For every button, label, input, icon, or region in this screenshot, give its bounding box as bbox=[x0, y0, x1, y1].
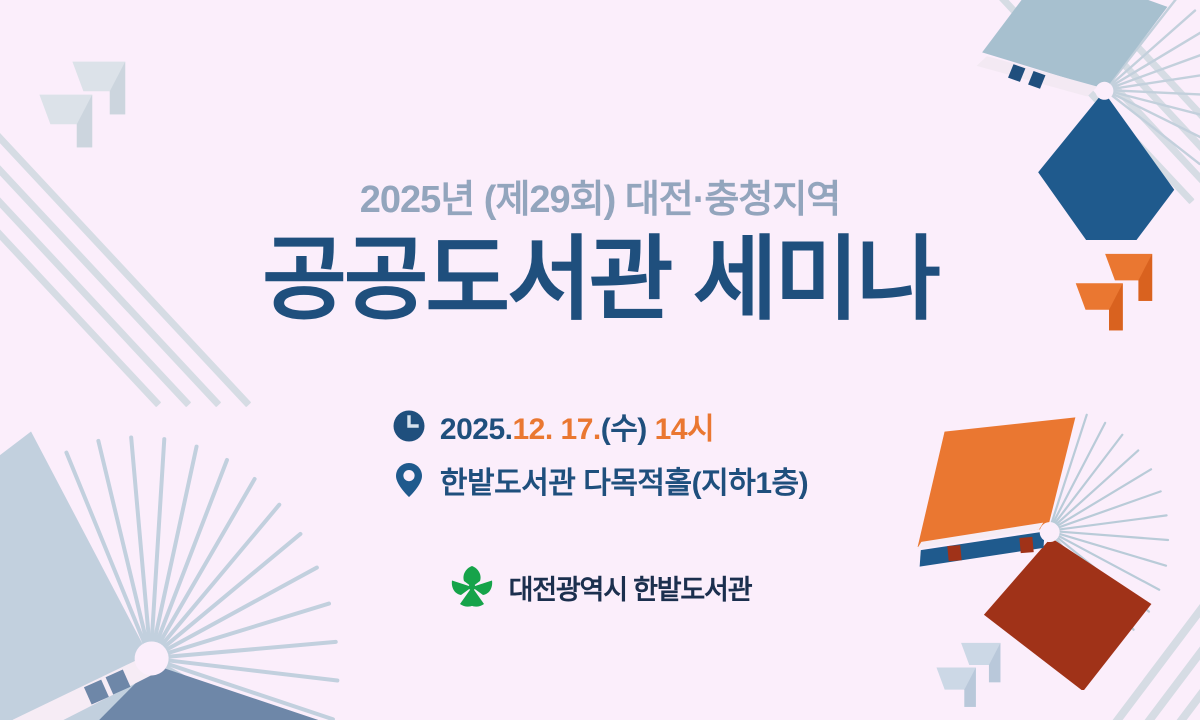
event-venue-text: 한밭도서관 다목적홀(지하1층) bbox=[440, 458, 808, 502]
seminar-poster: 2025년 (제29회) 대전·충청지역 공공도서관 세미나 2025.12. … bbox=[0, 0, 1200, 720]
organization-name: 대전광역시 한밭도서관 bbox=[509, 568, 752, 607]
event-date-row: 2025.12. 17.(수) 14시 bbox=[392, 404, 808, 448]
event-details: 2025.12. 17.(수) 14시 한밭도서관 다목적홀(지하1층) bbox=[392, 404, 808, 502]
event-date-text: 2025.12. 17.(수) 14시 bbox=[440, 404, 714, 448]
event-time: 14시 bbox=[655, 413, 714, 446]
daejeon-flower-logo-icon bbox=[449, 564, 495, 610]
event-month-day: 12. 17. bbox=[512, 413, 600, 446]
clock-icon bbox=[392, 408, 426, 444]
poster-subtitle: 2025년 (제29회) 대전·충청지역 bbox=[360, 168, 841, 223]
map-pin-icon bbox=[392, 462, 426, 498]
event-year: 2025. bbox=[440, 413, 513, 446]
event-place-row: 한밭도서관 다목적홀(지하1층) bbox=[392, 458, 808, 502]
poster-title: 공공도서관 세미나 bbox=[262, 231, 938, 330]
event-weekday: (수) bbox=[601, 413, 647, 446]
footer-branding: 대전광역시 한밭도서관 bbox=[449, 564, 752, 610]
